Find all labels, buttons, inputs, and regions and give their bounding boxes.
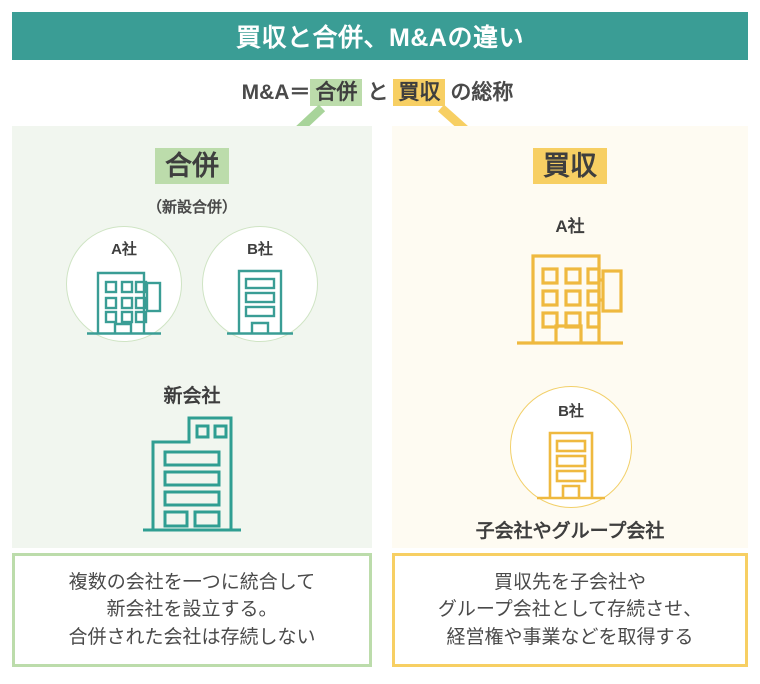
- page-title: 買収と合併、M&Aの違い: [236, 18, 524, 54]
- merger-panel-subtitle: （新設合併）: [12, 196, 372, 217]
- acquisition-caption-line-2: グループ会社として存続させ、: [438, 596, 702, 624]
- acquisition-panel-title-text: 買収: [533, 148, 607, 184]
- subtitle-prefix: M&A＝: [242, 81, 311, 104]
- merger-caption-line-2: 新会社を設立する。: [68, 596, 315, 624]
- office-building-with-sign-icon: [66, 259, 182, 337]
- merger-panel-title: 合併: [12, 144, 372, 183]
- acquisition-caption-box: 買収先を子会社や グループ会社として存続させ、 経営権や事業などを取得する: [392, 553, 748, 667]
- merger-company-b-label: B社: [202, 238, 318, 259]
- subtitle-term-merger: 合併: [310, 79, 362, 106]
- header-band: 買収と合併、M&Aの違い: [12, 12, 748, 60]
- acquisition-panel-title: 買収: [392, 144, 748, 183]
- merger-caption-line-1: 複数の会社を一つに統合して: [68, 569, 315, 597]
- office-tower-icon: [510, 421, 632, 503]
- merger-panel: 合併 （新設合併） A社: [12, 126, 372, 548]
- office-building-with-sign-icon: [392, 238, 748, 348]
- acquisition-child-label: B社: [510, 400, 632, 421]
- large-office-building-icon: [12, 408, 372, 534]
- merger-caption-box: 複数の会社を一つに統合して 新会社を設立する。 合併された会社は存続しない: [12, 553, 372, 667]
- infographic-page: 買収と合併、M&Aの違い M&A＝合併と買収の総称 合併 （新設合併）: [0, 0, 760, 684]
- office-tower-icon: [202, 259, 318, 337]
- subtitle-formula: M&A＝合併と買収の総称: [0, 76, 760, 106]
- merger-caption-line-3: 合併された会社は存続しない: [68, 624, 315, 652]
- subtitle-suffix: の総称: [445, 81, 518, 104]
- merger-panel-title-text: 合併: [155, 148, 229, 184]
- acquisition-panel: 買収 A社: [392, 126, 748, 548]
- merger-result-label: 新会社: [12, 381, 372, 408]
- acquisition-child-caption: 子会社やグループ会社: [392, 516, 748, 543]
- subtitle-term-acquisition: 買収: [393, 79, 445, 106]
- acquisition-caption-line-3: 経営権や事業などを取得する: [438, 624, 702, 652]
- subtitle-conjunction: と: [362, 81, 393, 104]
- acquisition-caption-line-1: 買収先を子会社や: [438, 569, 702, 597]
- merger-company-a-label: A社: [66, 238, 182, 259]
- acquisition-parent-label: A社: [392, 212, 748, 237]
